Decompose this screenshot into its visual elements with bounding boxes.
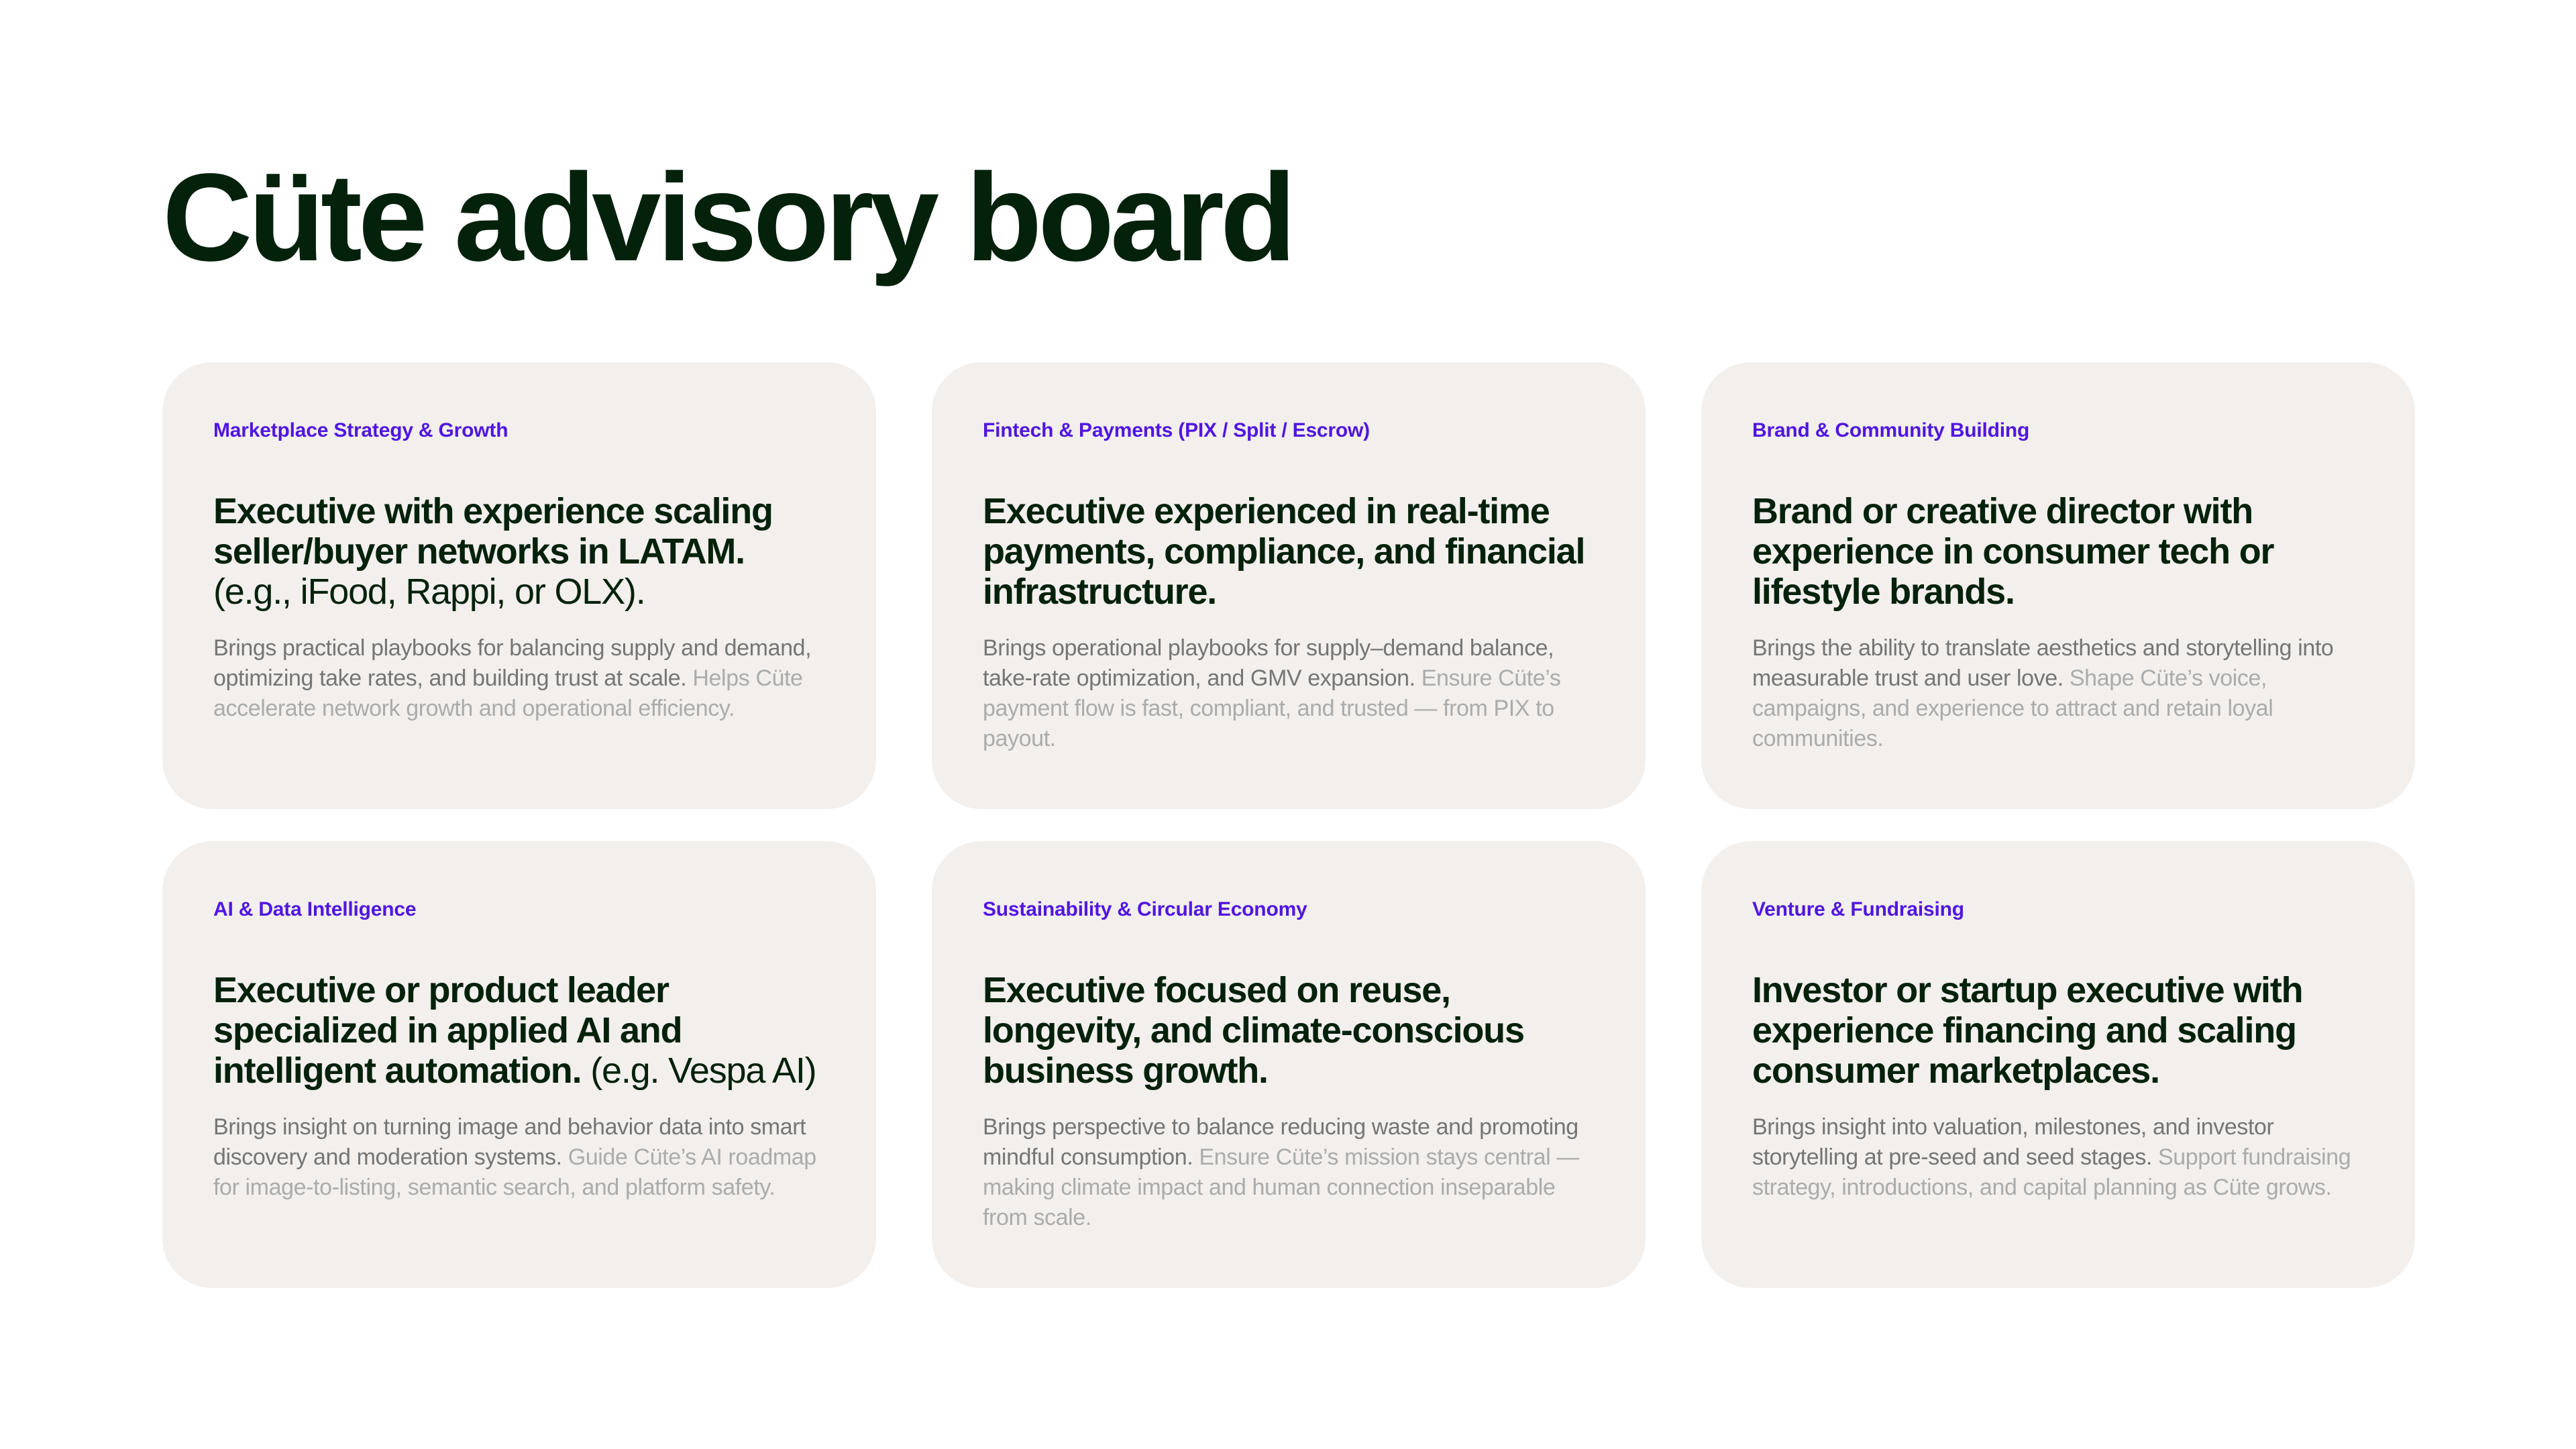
- card-headline-strong: Executive focused on reuse, longevity, a…: [983, 970, 1524, 1091]
- card-headline-strong: Executive with experience scaling seller…: [213, 491, 773, 572]
- advisory-card[interactable]: AI & Data Intelligence Executive or prod…: [162, 841, 876, 1288]
- advisory-card[interactable]: Brand & Community Building Brand or crea…: [1701, 362, 2415, 809]
- card-headline: Investor or startup executive with exper…: [1752, 970, 2364, 1091]
- advisory-board-card-grid: Marketplace Strategy & Growth Executive …: [162, 362, 2415, 1288]
- advisory-card[interactable]: Venture & Fundraising Investor or startu…: [1701, 841, 2415, 1288]
- card-headline-strong: Executive experienced in real-time payme…: [983, 491, 1585, 612]
- card-headline-strong: Brand or creative director with experien…: [1752, 491, 2273, 612]
- card-category-label: Venture & Fundraising: [1752, 898, 2364, 922]
- card-category-label: Marketplace Strategy & Growth: [213, 419, 825, 443]
- card-category-label: Sustainability & Circular Economy: [983, 898, 1595, 922]
- card-body: Brings insight into valuation, milestone…: [1752, 1112, 2364, 1203]
- card-category-label: Fintech & Payments (PIX / Split / Escrow…: [983, 419, 1595, 443]
- card-body: Brings perspective to balance reducing w…: [983, 1112, 1595, 1233]
- card-headline-light: (e.g. Vespa AI): [581, 1051, 816, 1091]
- card-headline: Brand or creative director with experien…: [1752, 491, 2364, 612]
- advisory-card[interactable]: Sustainability & Circular Economy Execut…: [932, 841, 1646, 1288]
- card-headline: Executive focused on reuse, longevity, a…: [983, 970, 1595, 1091]
- card-body: Brings operational playbooks for supply–…: [983, 633, 1595, 754]
- advisory-card[interactable]: Marketplace Strategy & Growth Executive …: [162, 362, 876, 809]
- page-title: Cüte advisory board: [162, 156, 1292, 280]
- card-headline-strong: Investor or startup executive with exper…: [1752, 970, 2302, 1091]
- card-headline: Executive or product leader specialized …: [213, 970, 825, 1091]
- advisory-card[interactable]: Fintech & Payments (PIX / Split / Escrow…: [932, 362, 1646, 809]
- card-category-label: AI & Data Intelligence: [213, 898, 825, 922]
- card-category-label: Brand & Community Building: [1752, 419, 2364, 443]
- card-body: Brings insight on turning image and beha…: [213, 1112, 825, 1203]
- card-headline: Executive with experience scaling seller…: [213, 491, 825, 612]
- card-headline: Executive experienced in real-time payme…: [983, 491, 1595, 612]
- card-body: Brings the ability to translate aestheti…: [1752, 633, 2364, 754]
- card-headline-light: (e.g., iFood, Rappi, or OLX).: [213, 572, 645, 612]
- advisory-board-page: Cüte advisory board Marketplace Strategy…: [0, 0, 2576, 1449]
- card-body: Brings practical playbooks for balancing…: [213, 633, 825, 724]
